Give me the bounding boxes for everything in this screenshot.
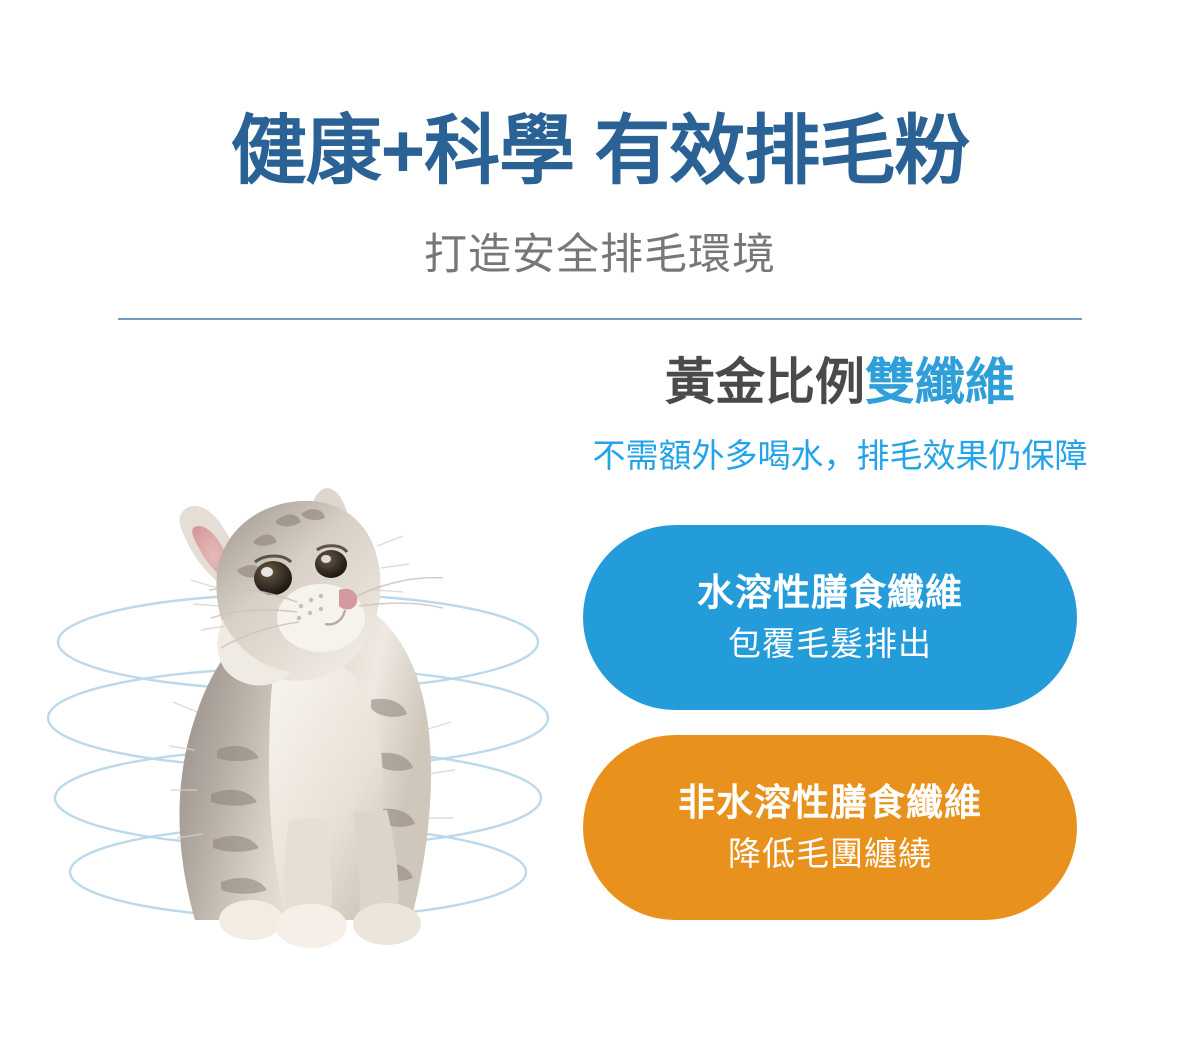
card-title: 非水溶性膳食纖維 — [678, 780, 982, 826]
promo-banner: 健康+科學 有效排毛粉 打造安全排毛環境 — [0, 0, 1200, 1057]
card-title: 水溶性膳食纖維 — [697, 570, 963, 616]
page-subtitle: 打造安全排毛環境 — [0, 228, 1200, 282]
card-soluble-fiber: 水溶性膳食纖維 包覆毛髮排出 — [583, 525, 1077, 710]
section-heading-accent: 雙纖維 — [865, 354, 1015, 410]
illustration-group — [30, 440, 570, 960]
section-heading-plain: 黃金比例 — [665, 354, 865, 410]
section-heading: 黃金比例雙纖維 — [540, 350, 1140, 414]
card-subtitle: 降低毛團纏繞 — [728, 832, 932, 876]
section-tagline: 不需額外多喝水，排毛效果仍保障 — [538, 434, 1142, 478]
kitten-photo — [125, 450, 485, 950]
card-subtitle: 包覆毛髮排出 — [728, 622, 932, 666]
card-insoluble-fiber: 非水溶性膳食纖維 降低毛團纏繞 — [583, 735, 1077, 920]
header-divider — [118, 318, 1082, 320]
page-title: 健康+科學 有效排毛粉 — [0, 105, 1200, 199]
fiber-card-list: 水溶性膳食纖維 包覆毛髮排出 非水溶性膳食纖維 降低毛團纏繞 — [583, 525, 1077, 920]
